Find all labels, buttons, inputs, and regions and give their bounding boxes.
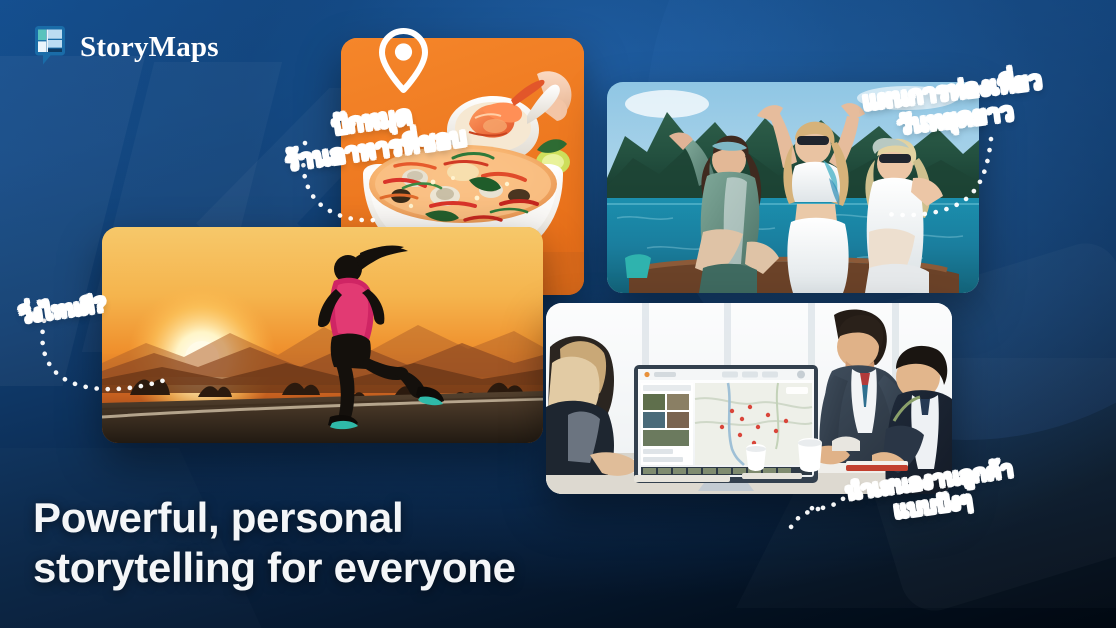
storymaps-logo-icon [32, 25, 68, 69]
callout-meeting-text: นำเสนองานลูกค้า แบบปังๆ [844, 456, 1018, 530]
running-photo-card[interactable] [102, 227, 543, 443]
callout-travel-text: แผนการท่องเที่ยว วันหยุดยาว [861, 67, 1047, 144]
callout-travel: แผนการท่องเที่ยว วันหยุดยาว [858, 39, 1047, 144]
page-headline: Powerful, personal storytelling for ever… [33, 493, 516, 594]
brand-lockup[interactable]: StoryMaps [32, 25, 219, 69]
map-pin-icon [378, 28, 429, 99]
dotted-curve-meeting-b [788, 509, 818, 534]
callout-running: วิ่งไหนดี? [15, 269, 108, 329]
poster-canvas: StoryMaps [0, 0, 1116, 628]
brand-name: StoryMaps [80, 33, 219, 62]
callout-running-text: วิ่งไหนดี? [18, 293, 108, 329]
